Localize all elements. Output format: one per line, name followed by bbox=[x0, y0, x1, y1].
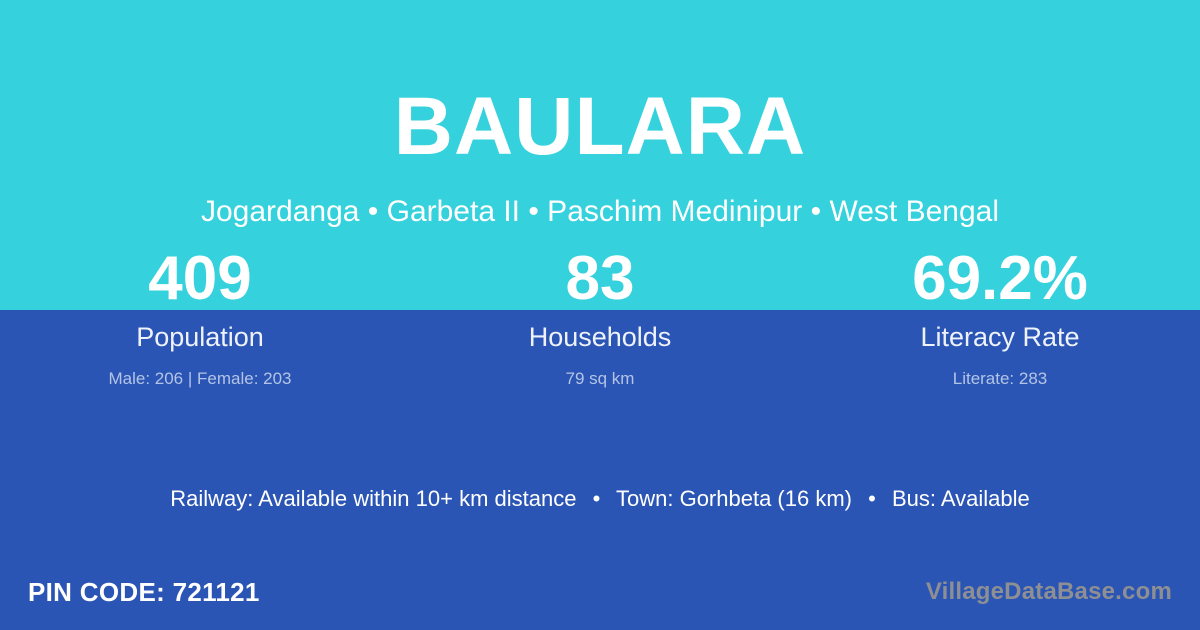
stat-sub-population: Male: 206 | Female: 203 bbox=[0, 370, 400, 387]
amenity-separator-2: • bbox=[858, 484, 886, 515]
stats-row: 409 Population Male: 206 | Female: 203 8… bbox=[0, 248, 1200, 387]
village-info-card: BAULARA Jogardanga • Garbeta II • Paschi… bbox=[0, 0, 1200, 630]
card-header: BAULARA Jogardanga • Garbeta II • Paschi… bbox=[0, 0, 1200, 227]
stat-value-literacy-rate: 69.2% bbox=[800, 248, 1200, 310]
stat-value-households: 83 bbox=[400, 248, 800, 310]
breadcrumb: Jogardanga • Garbeta II • Paschim Medini… bbox=[0, 197, 1200, 227]
amenity-bus: Bus: Available bbox=[892, 486, 1030, 511]
amenity-separator-1: • bbox=[583, 484, 611, 515]
amenity-railway: Railway: Available within 10+ km distanc… bbox=[170, 486, 576, 511]
stat-label-population: Population bbox=[0, 324, 400, 351]
pin-code-label: PIN CODE: 721121 bbox=[28, 579, 260, 605]
stat-households: 83 Households 79 sq km bbox=[400, 248, 800, 387]
stat-sub-households: 79 sq km bbox=[400, 370, 800, 387]
page-title: BAULARA bbox=[0, 86, 1200, 168]
stat-label-households: Households bbox=[400, 324, 800, 351]
stat-sub-literacy-rate: Literate: 283 bbox=[800, 370, 1200, 387]
stat-label-literacy-rate: Literacy Rate bbox=[800, 324, 1200, 351]
stat-literacy-rate: 69.2% Literacy Rate Literate: 283 bbox=[800, 248, 1200, 387]
amenity-town: Town: Gorhbeta (16 km) bbox=[616, 486, 852, 511]
amenities-row: Railway: Available within 10+ km distanc… bbox=[0, 484, 1200, 515]
card-footer: PIN CODE: 721121 VillageDataBase.com bbox=[0, 554, 1200, 630]
site-brand: VillageDataBase.com bbox=[926, 580, 1172, 604]
stat-population: 409 Population Male: 206 | Female: 203 bbox=[0, 248, 400, 387]
stat-value-population: 409 bbox=[0, 248, 400, 310]
